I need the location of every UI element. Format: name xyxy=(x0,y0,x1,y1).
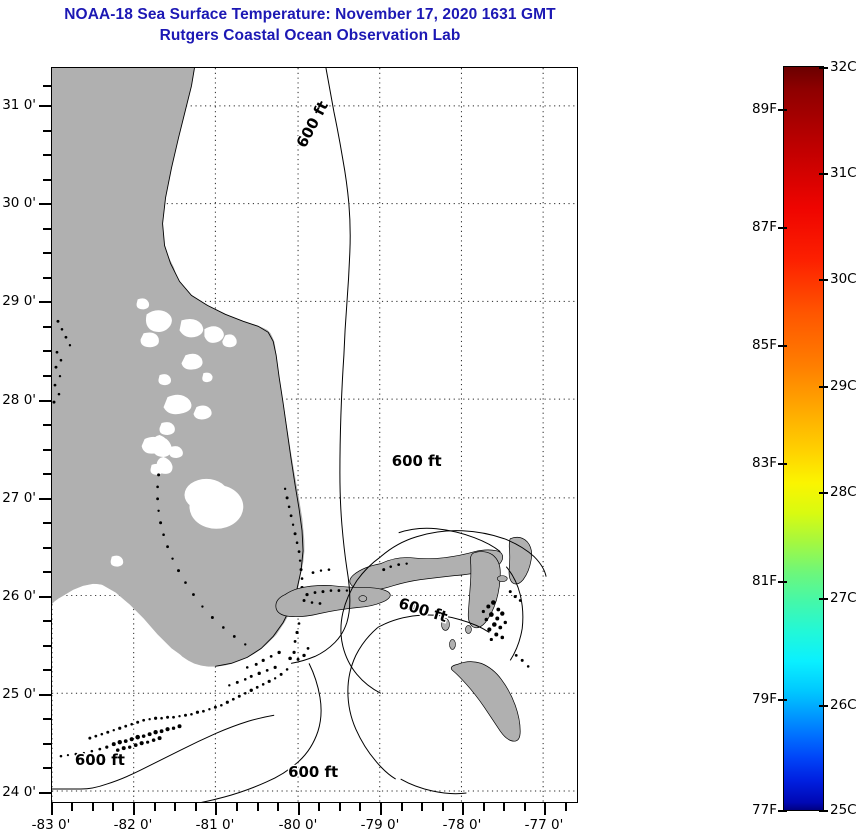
x-axis-label: -77 0' xyxy=(509,817,579,833)
colorbar-tick-c xyxy=(819,492,828,494)
x-tick-minor xyxy=(401,803,403,811)
x-axis-label: -81 0' xyxy=(180,817,250,833)
y-tick-minor xyxy=(43,449,51,451)
x-tick-minor xyxy=(442,803,444,811)
x-axis-label: -83 0' xyxy=(16,817,86,833)
colorbar-label-f: 87F xyxy=(752,219,777,235)
x-tick-minor xyxy=(359,803,361,811)
y-tick-minor xyxy=(43,228,51,230)
y-tick-minor xyxy=(43,277,51,279)
colorbar-label-f: 81F xyxy=(752,573,777,589)
y-tick-minor xyxy=(43,743,51,745)
y-tick-minor xyxy=(43,252,51,254)
colorbar-label-c: 29C xyxy=(830,378,857,394)
colorbar-label-c: 28C xyxy=(830,484,857,500)
y-tick-major xyxy=(39,596,51,598)
x-tick-minor xyxy=(483,803,485,811)
colorbar-label-c: 32C xyxy=(830,59,857,75)
x-tick-minor xyxy=(565,803,567,811)
colorbar-label-c: 30C xyxy=(830,271,857,287)
y-tick-minor xyxy=(43,326,51,328)
map-graphic: 600 ft 600 ft 600 ft 600 ft 600 ft xyxy=(52,68,577,802)
y-tick-major xyxy=(39,301,51,303)
colorbar-tick-f xyxy=(778,699,787,701)
colorbar-label-f: 77F xyxy=(752,802,777,818)
x-tick-minor xyxy=(236,803,238,811)
y-tick-minor xyxy=(43,350,51,352)
y-tick-major xyxy=(39,498,51,500)
x-tick-major xyxy=(298,803,300,815)
colorbar-label-f: 83F xyxy=(752,455,777,471)
y-axis-label: 26 0' xyxy=(0,588,36,604)
x-tick-minor xyxy=(112,803,114,811)
y-tick-minor xyxy=(43,154,51,156)
x-tick-minor xyxy=(71,803,73,811)
y-tick-minor xyxy=(43,130,51,132)
y-axis-label: 27 0' xyxy=(0,490,36,506)
x-axis-label: -80 0' xyxy=(263,817,333,833)
y-tick-minor xyxy=(43,767,51,769)
x-tick-minor xyxy=(195,803,197,811)
contour-label-4: 600 ft xyxy=(288,763,338,781)
colorbar-tick-c xyxy=(819,705,828,707)
x-tick-minor xyxy=(339,803,341,811)
y-tick-minor xyxy=(43,669,51,671)
x-tick-major xyxy=(462,803,464,815)
x-tick-minor xyxy=(524,803,526,811)
x-tick-minor xyxy=(154,803,156,811)
x-tick-major xyxy=(215,803,217,815)
y-tick-minor xyxy=(43,473,51,475)
y-tick-minor xyxy=(43,645,51,647)
colorbar-tick-c xyxy=(819,598,828,600)
colorbar-tick-c xyxy=(819,386,828,388)
colorbar-label-f: 89F xyxy=(752,101,777,117)
title-line-2: Rutgers Coastal Ocean Observation Lab xyxy=(0,25,620,46)
colorbar-tick-f xyxy=(778,463,787,465)
colorbar-tick-f xyxy=(778,345,787,347)
colorbar-label-f: 79F xyxy=(752,691,777,707)
x-tick-major xyxy=(51,803,53,815)
colorbar[interactable]: 32C 31C 30C 29C 28C 27C 26C 25C 89F 87F … xyxy=(783,66,824,811)
x-tick-major xyxy=(544,803,546,815)
sst-map-page: NOAA-18 Sea Surface Temperature: Novembe… xyxy=(0,0,865,832)
y-tick-major xyxy=(39,203,51,205)
y-axis-label: 31 0' xyxy=(0,97,36,113)
x-tick-minor xyxy=(174,803,176,811)
y-axis-label: 24 0' xyxy=(0,784,36,800)
x-tick-major xyxy=(380,803,382,815)
y-tick-minor xyxy=(43,620,51,622)
y-tick-minor xyxy=(43,522,51,524)
y-axis-label: 25 0' xyxy=(0,686,36,702)
page-title: NOAA-18 Sea Surface Temperature: Novembe… xyxy=(0,4,620,46)
colorbar-tick-f xyxy=(778,581,787,583)
y-axis-label: 29 0' xyxy=(0,293,36,309)
y-axis-label: 30 0' xyxy=(0,195,36,211)
y-tick-minor xyxy=(43,375,51,377)
contour-label-1: 600 ft xyxy=(392,452,442,470)
colorbar-label-c: 26C xyxy=(830,697,857,713)
colorbar-tick-f xyxy=(778,227,787,229)
x-tick-minor xyxy=(277,803,279,811)
y-tick-minor xyxy=(43,571,51,573)
colorbar-label-f: 85F xyxy=(752,337,777,353)
y-tick-major xyxy=(39,694,51,696)
x-axis-label: -79 0' xyxy=(345,817,415,833)
contour-label-3: 600 ft xyxy=(75,751,125,769)
colorbar-tick-c xyxy=(819,67,828,69)
x-tick-minor xyxy=(92,803,94,811)
colorbar-gradient xyxy=(783,66,824,811)
title-line-1: NOAA-18 Sea Surface Temperature: Novembe… xyxy=(0,4,620,25)
x-tick-minor xyxy=(318,803,320,811)
colorbar-tick-c xyxy=(819,173,828,175)
y-tick-minor xyxy=(43,547,51,549)
colorbar-tick-c xyxy=(819,810,828,812)
colorbar-tick-f xyxy=(778,109,787,111)
colorbar-tick-f xyxy=(778,810,787,812)
x-tick-minor xyxy=(257,803,259,811)
colorbar-tick-c xyxy=(819,279,828,281)
colorbar-label-c: 27C xyxy=(830,590,857,606)
x-tick-minor xyxy=(421,803,423,811)
y-tick-minor xyxy=(43,85,51,87)
y-tick-minor xyxy=(43,424,51,426)
y-tick-major xyxy=(39,792,51,794)
x-axis-label: -78 0' xyxy=(427,817,497,833)
x-tick-minor xyxy=(503,803,505,811)
map-plot-area[interactable]: 600 ft 600 ft 600 ft 600 ft 600 ft xyxy=(51,67,578,803)
colorbar-label-c: 31C xyxy=(830,165,857,181)
y-tick-major xyxy=(39,105,51,107)
x-axis-label: -82 0' xyxy=(98,817,168,833)
x-tick-major xyxy=(133,803,135,815)
colorbar-label-c: 25C xyxy=(830,802,857,818)
y-tick-minor xyxy=(43,718,51,720)
y-axis-label: 28 0' xyxy=(0,392,36,408)
y-tick-minor xyxy=(43,179,51,181)
y-tick-major xyxy=(39,400,51,402)
